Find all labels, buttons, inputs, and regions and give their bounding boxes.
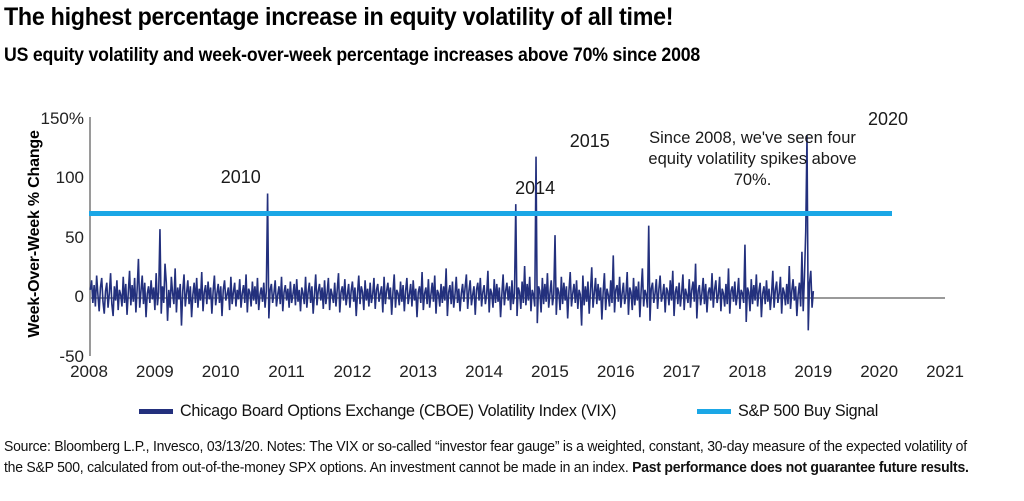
footnote-source-note: Source: Bloomberg L.P., Invesco, 03/13/2… [4,437,974,479]
footnote-bold-text: Past performance does not guarantee futu… [632,460,969,476]
x-axis-tick-2018: 2018 [712,362,782,382]
x-axis-tick-2008: 2008 [54,362,124,382]
x-axis-tick-labels: 2008200920102011201220132014201520162017… [0,362,1024,390]
legend-label: Chicago Board Options Exchange (CBOE) Vo… [180,401,616,421]
chart-plot-area: Week-Over-Week % Change -50050100150% Si… [0,100,1024,390]
spike-label-2015: 2015 [570,131,610,152]
x-axis-tick-2016: 2016 [581,362,651,382]
spike-label-2020: 2020 [868,109,908,130]
legend-item-1[interactable]: S&P 500 Buy Signal [697,401,885,421]
x-axis-tick-2011: 2011 [252,362,322,382]
legend-item-0[interactable]: Chicago Board Options Exchange (CBOE) Vo… [139,401,639,421]
x-axis-tick-2009: 2009 [120,362,190,382]
chart-annotation: Since 2008, we've seen four equity volat… [645,128,860,191]
chart-legend: Chicago Board Options Exchange (CBOE) Vo… [0,398,1024,424]
x-axis-tick-2013: 2013 [383,362,453,382]
vix-series-path [0,100,1024,390]
x-axis-tick-2020: 2020 [844,362,914,382]
x-axis-tick-2015: 2015 [515,362,585,382]
x-axis-tick-2021: 2021 [910,362,980,382]
legend-label: S&P 500 Buy Signal [738,401,878,421]
legend-swatch-icon [697,409,731,414]
spike-label-2014: 2014 [515,178,555,199]
x-axis-tick-2010: 2010 [186,362,256,382]
x-axis-tick-2014: 2014 [449,362,519,382]
legend-swatch-icon [139,409,173,414]
x-axis-tick-2012: 2012 [317,362,387,382]
page-subtitle: US equity volatility and week-over-week … [4,44,943,68]
x-axis-tick-2017: 2017 [647,362,717,382]
buy-signal-threshold-line [89,211,892,216]
page-title: The highest percentage increase in equit… [4,2,943,32]
spike-label-2010: 2010 [221,167,261,188]
x-axis-tick-2019: 2019 [778,362,848,382]
